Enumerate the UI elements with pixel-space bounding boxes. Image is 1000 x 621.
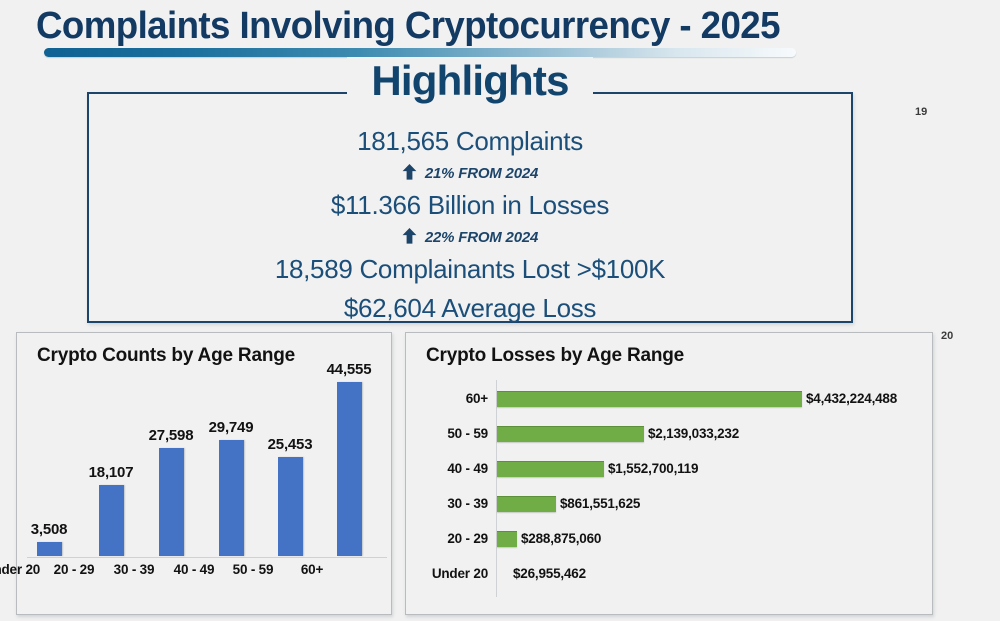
losses-bar-group: Under 20$26,955,462 [406, 564, 932, 584]
losses-category-label: 20 - 29 [406, 529, 488, 549]
losses-category-label: 40 - 49 [406, 459, 488, 479]
counts-bar-value-label: 25,453 [247, 436, 333, 453]
losses-bar [497, 496, 556, 512]
highlight-stat-line: 181,565 Complaints [89, 122, 851, 161]
losses-category-label: 60+ [406, 389, 488, 409]
highlights-heading-label: Highlights [347, 57, 592, 104]
page-marker-bottom: 20 [941, 330, 953, 342]
crypto-counts-chart-card: Crypto Counts by Age Range 3,50818,10727… [16, 332, 392, 615]
losses-bar [497, 461, 604, 477]
losses-chart-plot-area: 60+$4,432,224,48850 - 59$2,139,033,23240… [406, 333, 932, 614]
highlight-stat-line: $11.366 Billion in Losses [89, 186, 851, 225]
losses-bar-group: 20 - 29$288,875,060 [406, 529, 932, 549]
losses-bar-value-label: $1,552,700,119 [608, 459, 698, 479]
losses-category-label: 50 - 59 [406, 424, 488, 444]
counts-bar [37, 542, 62, 556]
highlight-delta-label: 22% FROM 2024 [425, 229, 538, 246]
counts-bar-value-label: 18,107 [68, 464, 154, 481]
losses-category-label: 30 - 39 [406, 494, 488, 514]
counts-bar-value-label: 3,508 [6, 521, 92, 538]
counts-bar [337, 382, 362, 556]
counts-bar [159, 448, 184, 556]
losses-bar-group: 60+$4,432,224,488 [406, 389, 932, 409]
page-marker-top: 19 [915, 106, 927, 118]
counts-bar-value-label: 29,749 [188, 419, 274, 436]
title-underline-rule [44, 48, 796, 57]
losses-bar [497, 531, 517, 547]
counts-bar [219, 440, 244, 556]
counts-bar-value-label: 44,555 [306, 361, 392, 378]
crypto-losses-chart-card: Crypto Losses by Age Range 60+$4,432,224… [405, 332, 933, 615]
losses-bar-group: 50 - 59$2,139,033,232 [406, 424, 932, 444]
counts-chart-plot-area: 3,50818,10727,59829,74925,45344,555 [27, 371, 385, 556]
losses-bar-value-label: $4,432,224,488 [806, 389, 897, 409]
arrow-up-icon [402, 164, 417, 180]
counts-category-label: 60+ [275, 562, 349, 578]
highlights-stat-list: 181,565 Complaints21% FROM 2024$11.366 B… [89, 122, 851, 328]
losses-bar-value-label: $288,875,060 [521, 529, 601, 549]
highlight-delta-label: 21% FROM 2024 [425, 165, 538, 182]
highlight-stat-line: 18,589 Complainants Lost >$100K [89, 250, 851, 289]
losses-bar-value-label: $26,955,462 [513, 564, 586, 584]
losses-category-label: Under 20 [406, 564, 488, 584]
arrow-up-icon [402, 228, 417, 244]
page-title: Complaints Involving Cryptocurrency - 20… [36, 2, 780, 50]
counts-chart-baseline [27, 557, 387, 558]
losses-bar-value-label: $2,139,033,232 [648, 424, 739, 444]
crypto-counts-chart-title: Crypto Counts by Age Range [37, 345, 295, 367]
highlight-delta-line: 22% FROM 2024 [89, 225, 851, 250]
counts-bar [278, 457, 303, 556]
highlight-delta-line: 21% FROM 2024 [89, 161, 851, 186]
highlights-heading: Highlights [89, 58, 851, 104]
losses-bar-group: 30 - 39$861,551,625 [406, 494, 932, 514]
losses-bar [497, 426, 644, 442]
highlight-stat-line: $62,604 Average Loss [89, 289, 851, 328]
losses-bar-group: 40 - 49$1,552,700,119 [406, 459, 932, 479]
counts-bar [99, 485, 124, 556]
losses-bar-value-label: $861,551,625 [560, 494, 640, 514]
losses-bar [497, 391, 802, 407]
highlights-panel: Highlights 181,565 Complaints21% FROM 20… [87, 92, 853, 323]
